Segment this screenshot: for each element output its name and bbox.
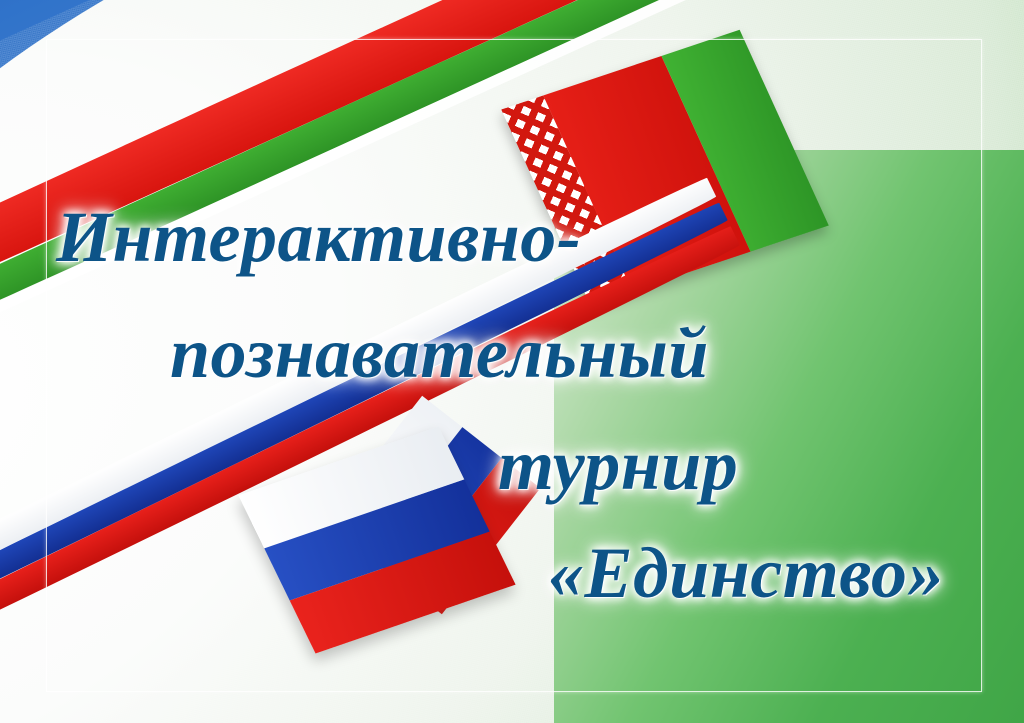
poster-canvas: Интерактивно- познавательный турнир «Еди… [0,0,1024,723]
